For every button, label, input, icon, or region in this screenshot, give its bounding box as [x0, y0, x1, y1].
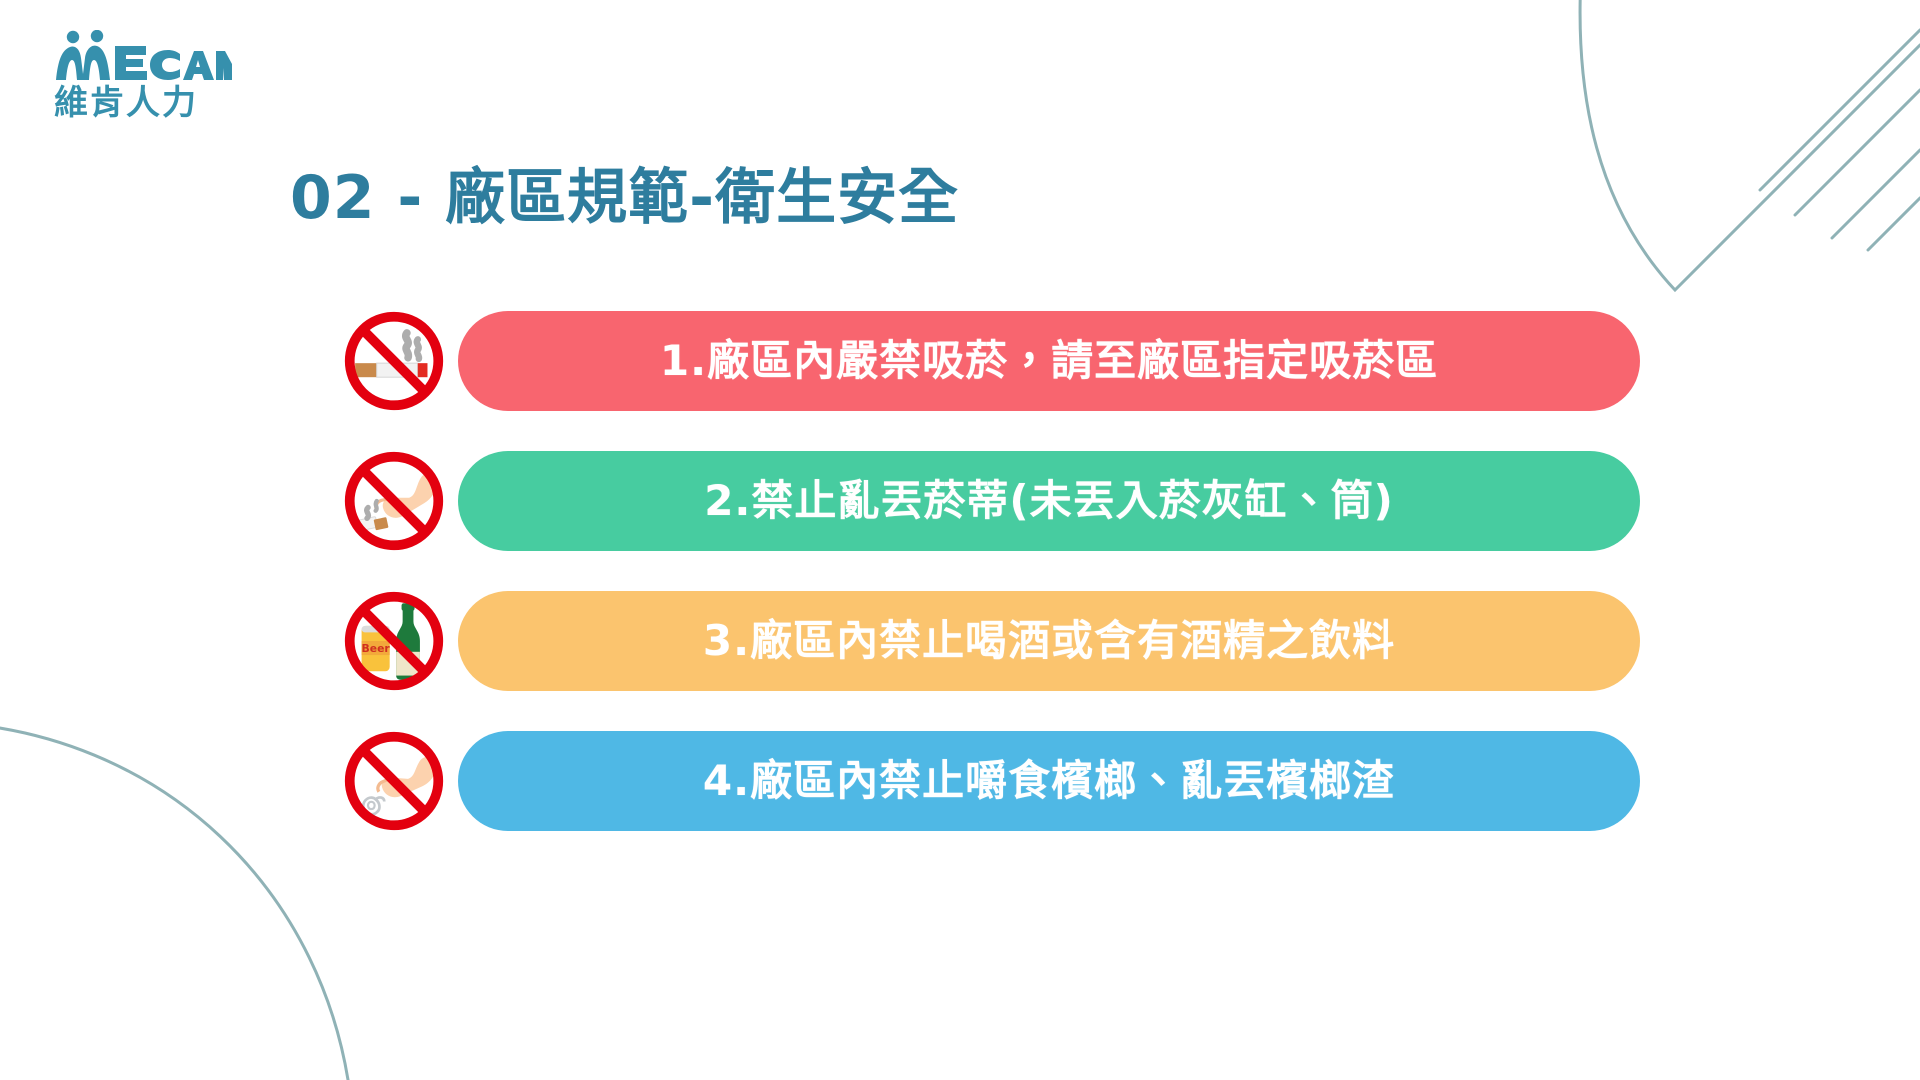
rule-text: 2.禁止亂丟菸蒂(未丟入菸灰缸、筒)	[704, 480, 1394, 522]
rule-row: 2.禁止亂丟菸蒂(未丟入菸灰缸、筒)	[340, 445, 1640, 557]
stripe-decoration-1	[1760, 30, 1920, 190]
we-can-logo: 維肯人力	[52, 30, 232, 130]
slide-canvas: 維肯人力 02 - 廠區規範-衛生安全	[0, 0, 1920, 1080]
shield-curve-decoration	[1580, 0, 1920, 290]
rule-text: 1.廠區內嚴禁吸菸，請至廠區指定吸菸區	[660, 340, 1438, 382]
no-alcohol-icon: Beer	[340, 587, 448, 695]
stripe-decoration-2	[1795, 90, 1920, 215]
rule-pill[interactable]: 3.廠區內禁止喝酒或含有酒精之飲料	[458, 591, 1640, 691]
we-can-wordmark-icon	[52, 30, 232, 86]
circle-arc-decoration	[0, 722, 352, 1080]
rules-list: 1.廠區內嚴禁吸菸，請至廠區指定吸菸區	[340, 305, 1640, 865]
no-betel-nut-icon	[340, 727, 448, 835]
rule-pill[interactable]: 4.廠區內禁止嚼食檳榔、亂丟檳榔渣	[458, 731, 1640, 831]
stripe-decoration-3	[1832, 150, 1920, 238]
rule-row: 4.廠區內禁止嚼食檳榔、亂丟檳榔渣	[340, 725, 1640, 837]
rule-row: 1.廠區內嚴禁吸菸，請至廠區指定吸菸區	[340, 305, 1640, 417]
rule-row: Beer 3.廠區內禁止喝酒或含有酒精之飲料	[340, 585, 1640, 697]
rule-pill[interactable]: 2.禁止亂丟菸蒂(未丟入菸灰缸、筒)	[458, 451, 1640, 551]
logo-chinese-name: 維肯人力	[54, 86, 198, 120]
stripe-decoration-4	[1868, 198, 1920, 250]
no-cigarette-butt-litter-icon	[340, 447, 448, 555]
no-smoking-icon	[340, 307, 448, 415]
rule-text: 4.廠區內禁止嚼食檳榔、亂丟檳榔渣	[703, 760, 1395, 802]
rule-text: 3.廠區內禁止喝酒或含有酒精之飲料	[703, 620, 1395, 662]
svg-text:Beer: Beer	[362, 642, 391, 655]
rule-pill[interactable]: 1.廠區內嚴禁吸菸，請至廠區指定吸菸區	[458, 311, 1640, 411]
page-title: 02 - 廠區規範-衛生安全	[290, 168, 959, 228]
